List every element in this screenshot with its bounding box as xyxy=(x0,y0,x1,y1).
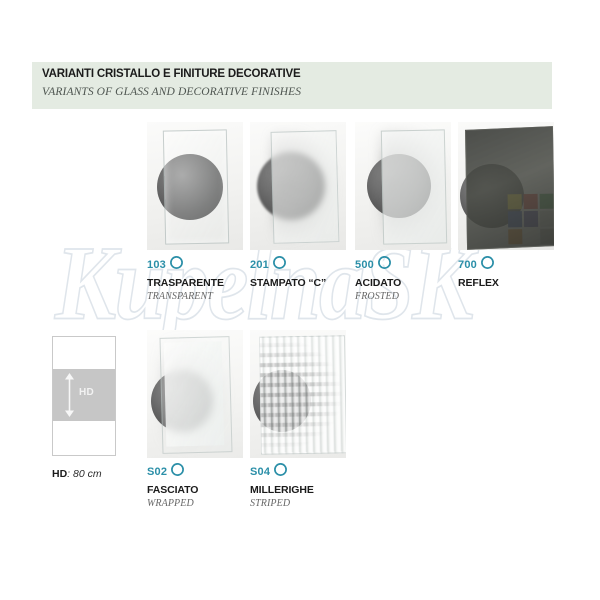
hd-caption-value: : 80 cm xyxy=(67,468,101,480)
glass-panel xyxy=(271,130,340,244)
sample-name-en: WRAPPED xyxy=(147,498,198,509)
glass-panel xyxy=(163,129,229,244)
page-subtitle: VARIANTS OF GLASS AND DECORATIVE FINISHE… xyxy=(42,86,301,98)
finish-badge-icon xyxy=(170,256,183,274)
finish-badge-icon xyxy=(481,256,494,274)
glass-panel xyxy=(381,129,447,244)
finish-badge-icon xyxy=(171,463,184,481)
sample-name-it: STAMPATO “C” xyxy=(250,277,326,289)
hd-dimension-diagram: HD xyxy=(52,336,116,456)
page-title: VARIANTI CRISTALLO E FINITURE DECORATIVE xyxy=(42,68,300,80)
sample-code: 500 xyxy=(355,259,374,271)
section-header: VARIANTI CRISTALLO E FINITURE DECORATIVE… xyxy=(32,62,552,109)
sample-name-it: FASCIATO xyxy=(147,484,198,496)
rib-texture xyxy=(259,335,345,452)
sample-code: 700 xyxy=(458,259,477,271)
sample-code: 201 xyxy=(250,259,269,271)
sample-name-it: MILLERIGHE xyxy=(250,484,314,496)
sample-image-s02 xyxy=(147,330,243,458)
sample-card-500[interactable] xyxy=(355,122,451,250)
sample-caption-500: 500 ACIDATO FROSTED xyxy=(355,258,401,302)
hd-band-label: HD xyxy=(79,387,94,398)
sample-name-en: FROSTED xyxy=(355,291,401,302)
sample-card-103[interactable] xyxy=(147,122,243,250)
sample-name-it: ACIDATO xyxy=(355,277,401,289)
finish-badge-icon xyxy=(378,256,391,274)
sample-image-s04 xyxy=(250,330,346,458)
sample-caption-700: 700 REFLEX xyxy=(458,258,499,291)
sample-caption-s04: S04 MILLERIGHE STRIPED xyxy=(250,465,314,509)
sample-card-700[interactable] xyxy=(458,122,554,250)
finish-badge-icon xyxy=(273,256,286,274)
glass-panel xyxy=(465,126,554,250)
hd-caption-key: HD xyxy=(52,468,67,480)
sample-image-500 xyxy=(355,122,451,250)
sample-caption-103: 103 TRASPARENTE TRANSPARENT xyxy=(147,258,224,302)
glass-panel xyxy=(159,336,232,454)
sample-card-s04[interactable] xyxy=(250,330,346,458)
sample-image-700 xyxy=(458,122,554,250)
sample-image-103 xyxy=(147,122,243,250)
sample-name-en: STRIPED xyxy=(250,498,314,509)
sample-code: 103 xyxy=(147,259,166,271)
sample-card-s02[interactable] xyxy=(147,330,243,458)
sample-card-201[interactable] xyxy=(250,122,346,250)
double-arrow-icon xyxy=(64,373,75,417)
sample-code: S04 xyxy=(250,466,270,478)
hd-caption: HD: 80 cm xyxy=(52,468,102,480)
sample-image-201 xyxy=(250,122,346,250)
sample-name-it: REFLEX xyxy=(458,277,499,289)
sample-code: S02 xyxy=(147,466,167,478)
sample-caption-201: 201 STAMPATO “C” xyxy=(250,258,326,291)
sample-name-it: TRASPARENTE xyxy=(147,277,224,289)
sample-caption-s02: S02 FASCIATO WRAPPED xyxy=(147,465,198,509)
finish-badge-icon xyxy=(274,463,287,481)
sample-name-en: TRANSPARENT xyxy=(147,291,224,302)
